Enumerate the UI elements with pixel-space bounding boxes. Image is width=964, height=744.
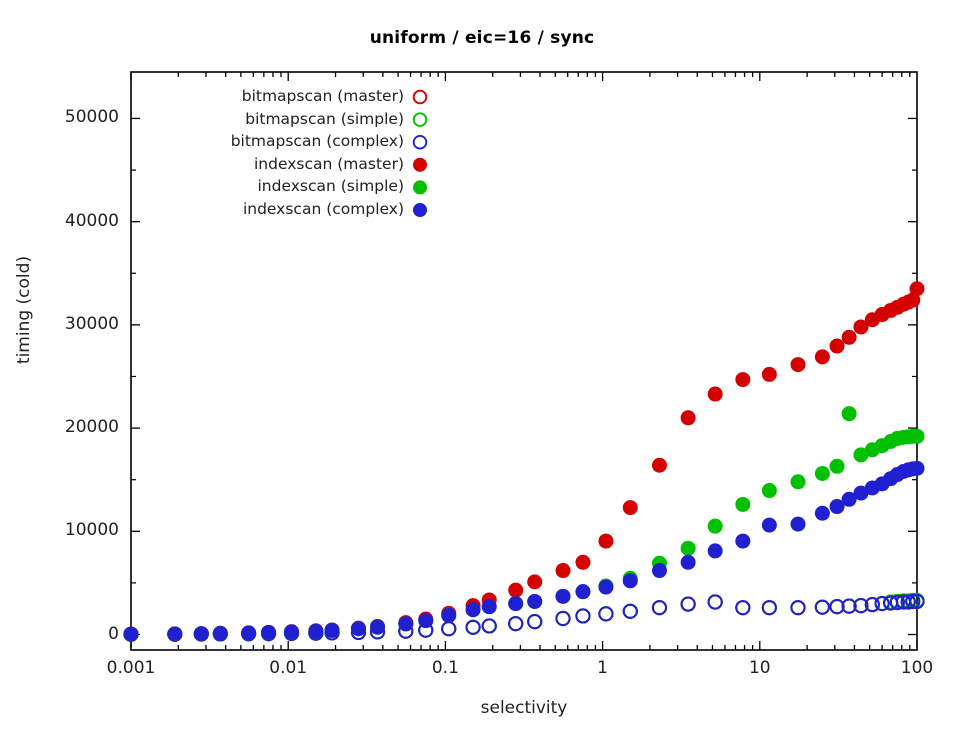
legend-markers — [413, 91, 427, 217]
data-points — [124, 281, 925, 641]
x-tick-label: 10 — [710, 658, 810, 678]
series-indexscan-master- — [124, 281, 925, 641]
legend-item-bitmapscan-master-: bitmapscan (master) — [0, 87, 404, 105]
x-tick-label: 0.01 — [238, 658, 338, 678]
y-tick-label: 10000 — [1, 520, 119, 540]
legend-item-indexscan-simple-: indexscan (simple) — [0, 177, 404, 195]
x-tick-label: 0.1 — [395, 658, 495, 678]
x-tick-label: 100 — [867, 658, 964, 678]
x-tick-label: 0.001 — [81, 658, 181, 678]
legend-item-indexscan-master-: indexscan (master) — [0, 155, 404, 173]
chart-figure: uniform / eic=16 / sync timing (cold) se… — [0, 0, 964, 744]
y-tick-label: 0 — [1, 624, 119, 644]
series-indexscan-complex- — [124, 461, 925, 642]
y-tick-label: 30000 — [1, 314, 119, 334]
y-tick-label: 20000 — [1, 417, 119, 437]
legend-item-bitmapscan-simple-: bitmapscan (simple) — [0, 110, 404, 128]
x-tick-label: 1 — [553, 658, 653, 678]
legend-item-indexscan-complex-: indexscan (complex) — [0, 200, 404, 218]
legend-item-bitmapscan-complex-: bitmapscan (complex) — [0, 132, 404, 150]
